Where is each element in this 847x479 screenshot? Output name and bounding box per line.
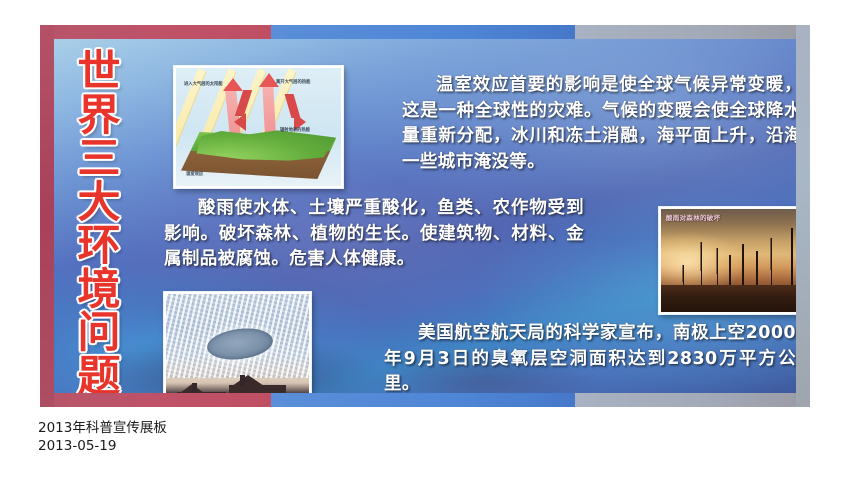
paragraph-ozone-layer: 美国航空航天局的科学家宣布，南极上空2000年9月3日的臭氧层空洞面积达到283…: [384, 321, 796, 393]
forest-photo-caption: 酸雨对森林的破坏: [666, 212, 720, 222]
reflected-arrow-head: [234, 113, 246, 131]
poster-title-vertical: 世 界 三 大 环 境 问 题: [68, 51, 130, 393]
paragraph-greenhouse-effect: 温室效应首要的影响是使全球气候异常变暖，这是一种全球性的灾难。气候的变暖会使全球…: [402, 73, 796, 175]
diagram-label-reflected: 辐射地表的热能: [280, 128, 324, 134]
left-border-strip: [40, 25, 54, 407]
title-char: 界: [78, 95, 121, 139]
title-char: 大: [78, 182, 121, 226]
footer-caption: 2013年科普宣传展板 2013-05-19: [38, 420, 167, 455]
poster-frame: 世 界 三 大 环 境 问 题: [40, 25, 810, 407]
greenhouse-diagram-canvas: 进入大气层的太阳能 离开大气层的热能 辐射地表的热能 温室效应: [176, 68, 341, 186]
ozone-hole-photo: [164, 292, 311, 393]
roof-silhouette: [232, 375, 264, 386]
top-band-segment-blue: [271, 25, 575, 39]
bottom-band-segment-red: [40, 393, 271, 407]
diagram-label-title: 温室效应: [186, 172, 226, 178]
title-char: 世: [78, 51, 121, 95]
poster-content-panel: 世 界 三 大 环 境 问 题: [54, 39, 796, 393]
top-band-segment-red: [40, 25, 271, 39]
bottom-band-segment-blue: [271, 393, 575, 407]
top-band-segment-gray: [575, 25, 810, 39]
title-char: 三: [78, 138, 121, 182]
acid-rain-forest-photo: 酸雨对森林的破坏: [659, 207, 796, 314]
title-char: 问: [78, 312, 121, 356]
bottom-band-segment-gray: [575, 393, 810, 407]
chimney-silhouette: [192, 383, 197, 393]
diagram-label-incoming: 进入大气层的太阳能: [184, 82, 228, 88]
bottom-border-band: [40, 393, 810, 407]
top-border-band: [40, 25, 810, 39]
footer-caption-line1: 2013年科普宣传展板: [38, 420, 167, 438]
title-char: 题: [78, 356, 121, 394]
paragraph-acid-rain: 酸雨使水体、土壤严重酸化，鱼类、农作物受到影响。破坏森林、植物的生长。使建筑物、…: [164, 196, 584, 273]
title-char: 环: [78, 225, 121, 269]
right-border-strip: [796, 25, 810, 407]
diagram-label-outgoing: 离开大气层的热能: [276, 80, 324, 86]
greenhouse-diagram-photo: 进入大气层的太阳能 离开大气层的热能 辐射地表的热能 温室效应: [174, 66, 343, 188]
chimney-silhouette: [240, 375, 245, 386]
forest-ground: [661, 285, 796, 312]
title-char: 境: [78, 269, 121, 313]
footer-caption-line2: 2013-05-19: [38, 438, 167, 456]
